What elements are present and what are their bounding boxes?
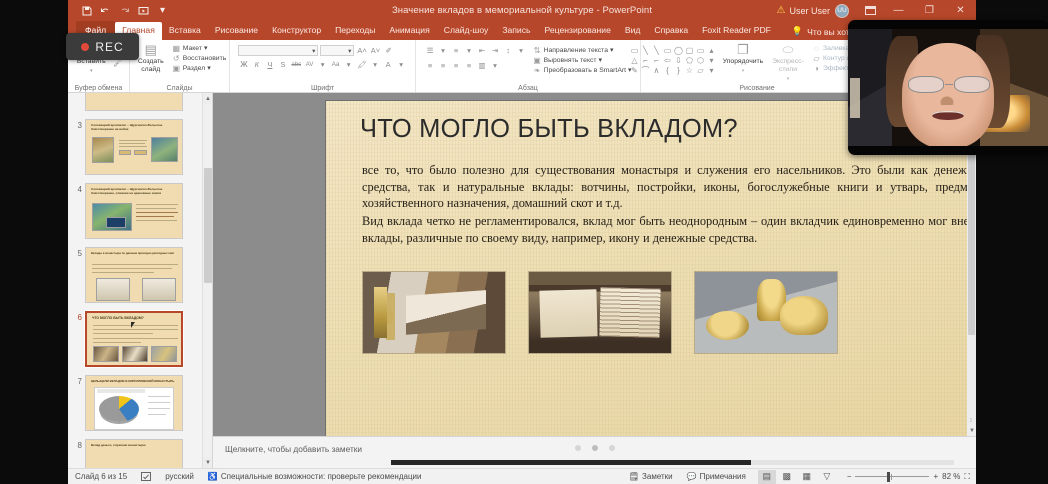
list-item[interactable]: 3 Соловецкий архипелаг – Щургинско-Бельс… [68, 115, 202, 179]
zoom-in-icon[interactable]: + [933, 472, 938, 481]
scrollbar-thumb[interactable] [204, 168, 212, 283]
tab-insert[interactable]: Вставка [162, 22, 208, 40]
reset-icon: ↺ [172, 54, 181, 63]
bold-button[interactable]: Ж [238, 59, 249, 70]
shape-right-brace-icon[interactable]: } [673, 65, 684, 75]
horizontal-scrollbar[interactable] [391, 460, 954, 465]
normal-view-icon[interactable]: ▤ [758, 470, 776, 484]
convert-smartart-button[interactable]: ❧ Преобразовать в SmartArt▾ [533, 66, 632, 75]
scroll-up-icon[interactable]: ▲ [203, 93, 213, 104]
powerpoint-window: ▾ Значение вкладов в мемориальной культу… [68, 0, 976, 484]
maximize-icon[interactable]: ❐ [914, 0, 945, 21]
chevron-down-icon: ▾ [90, 67, 93, 75]
text-shadow-button[interactable]: S [277, 59, 288, 70]
layout-button[interactable]: ▦ Макет▾ [172, 44, 227, 53]
shape-textbox-icon[interactable]: ▭ [629, 45, 640, 55]
notes-button[interactable]: 🗒 Заметки [622, 469, 680, 484]
shape-pentagon-icon[interactable]: ⬠ [684, 55, 695, 65]
thumbnail-title: Соловецкий архипелаг – Щургинско-Бельско… [91, 123, 178, 131]
layout-label: Макет [183, 44, 202, 53]
thumbnail-title: Вклад деньги, служение монастырю [91, 443, 178, 447]
thumbnail-number: 8 [68, 439, 82, 450]
reading-view-icon[interactable]: ▦ [798, 470, 816, 484]
thumbnail-number: 6 [68, 311, 82, 322]
thumbnail-number: 4 [68, 183, 82, 194]
photo-church-interior-candlesticks[interactable] [362, 271, 506, 354]
section-button[interactable]: ▣ Раздел▾ [172, 64, 227, 73]
clear-formatting-icon[interactable]: ✐ [383, 45, 394, 56]
bullets-chevron-down-icon[interactable]: ▾ [438, 45, 449, 56]
shape-square-icon[interactable]: ▭ [695, 45, 706, 55]
text-direction-icon: ⇅ [533, 46, 542, 55]
title-bar: ▾ Значение вкладов в мемориальной культу… [68, 0, 976, 21]
thumbnail-slide-8[interactable]: Вклад деньги, служение монастырю [85, 439, 183, 468]
tab-view[interactable]: Вид [618, 22, 648, 40]
screen: ▾ Значение вкладов в мемориальной культу… [0, 0, 1048, 484]
arrange-label: Упорядочить [723, 58, 763, 66]
columns-icon[interactable]: ▥ [477, 60, 488, 71]
shapes-scroll-up-icon[interactable]: ▴ [706, 45, 717, 55]
align-text-icon: ▣ [533, 56, 542, 65]
status-bar: Слайд 6 из 15 русский ♿ Специальные возм… [68, 468, 976, 484]
shapes-gallery[interactable]: ▭ ╲ ╲ ▭ ◯ ▢ ▭ ▴ △ ⌐ ⌐ ⇦ ⇩ ⬠ ⬡ [629, 43, 717, 75]
highlight-chevron-down-icon[interactable]: ▾ [370, 59, 381, 70]
list-item[interactable]: 4 Соловецкий архипелаг – Щургинско-Бельс… [68, 179, 202, 243]
change-case-button[interactable]: Aa [330, 59, 341, 70]
tab-slideshow[interactable]: Слайд-шоу [437, 22, 496, 40]
thumbnail-list: 2 3 Соловецкий архипелаг – Щургинско-Бел… [68, 93, 202, 468]
layout-icon: ▦ [172, 44, 181, 53]
thumbnail-slide-2[interactable] [85, 93, 183, 111]
thumbnail-title: ЦЕЛЬ/ЦЕЛИ ВКЛАДОВ В КИРИЛЛОВСКИЙ МОНАСТЫ… [91, 379, 178, 383]
ribbon-group-font: ▾ ▾ A˄ A˅ ✐ Ж К Ч S abc [230, 40, 416, 92]
char-spacing-chevron-down-icon[interactable]: ▾ [317, 59, 328, 70]
thumbnail-slide-4[interactable]: Соловецкий архипелаг – Щургинско-Бельско… [85, 183, 183, 239]
list-item[interactable]: 5 Вклады в монастыри по данным приходно-… [68, 243, 202, 307]
ribbon-display-options-icon[interactable] [857, 0, 883, 21]
align-left-icon[interactable]: ≡ [425, 60, 436, 71]
arrange-icon: ❐ [737, 43, 749, 57]
shape-right-triangle-icon[interactable]: ⌐ [640, 55, 651, 65]
numbering-chevron-down-icon[interactable]: ▾ [464, 45, 475, 56]
tab-foxit-reader-pdf[interactable]: Foxit Reader PDF [695, 22, 778, 40]
shape-line-icon[interactable]: ╲ [640, 45, 651, 55]
strikethrough-button[interactable]: abc [290, 59, 302, 70]
speaker-face [902, 43, 994, 146]
notes-pane[interactable]: Щелкните, чтобы добавить заметки [213, 436, 976, 468]
list-item[interactable]: 8 Вклад деньги, служение монастырю [68, 435, 202, 468]
record-dot-icon [81, 43, 89, 51]
tab-animations[interactable]: Анимация [382, 22, 436, 40]
thumbnail-title: Соловецкий архипелаг – Щургинско-Бельско… [91, 187, 178, 195]
redo-icon[interactable] [116, 2, 133, 19]
tab-draw[interactable]: Рисование [208, 22, 265, 40]
tab-review[interactable]: Рецензирование [538, 22, 618, 40]
reset-label: Восстановить [183, 54, 227, 63]
zoom-control[interactable]: − + 82 % ⛶ [841, 471, 976, 483]
bulleted-list-icon[interactable]: ☰ [425, 45, 436, 56]
thumbnail-title: Вклады в монастыри по данным приходно-ра… [91, 251, 178, 255]
lightbulb-icon: 💡 [792, 26, 803, 37]
slides-group-label: Слайды [130, 85, 229, 92]
thumbnail-slide-7[interactable]: ЦЕЛЬ/ЦЕЛИ ВКЛАДОВ В КИРИЛЛОВСКИЙ МОНАСТЫ… [85, 375, 183, 431]
font-size-combo[interactable]: ▾ [320, 45, 354, 56]
language-indicator[interactable]: русский [158, 469, 201, 484]
shape-triangle-icon[interactable]: △ [629, 55, 640, 65]
user-name[interactable]: User User [789, 6, 830, 16]
thumbnail-title: ЧТО МОГЛО БЫТЬ ВКЛАДОМ? [92, 316, 177, 320]
comment-icon: 💬 [687, 472, 697, 481]
underline-button[interactable]: Ч [264, 59, 275, 70]
shapes-more-icon[interactable]: ▾ [706, 65, 717, 75]
new-slide-icon: ▤ [145, 43, 157, 57]
comments-button[interactable]: 💬 Примечания [680, 469, 753, 484]
quick-styles-button[interactable]: ⬭ Экспресс-стили ▾ [769, 43, 807, 83]
increase-font-size-icon[interactable]: A˄ [356, 45, 367, 56]
character-spacing-button[interactable]: AV [304, 59, 315, 70]
shape-banner-icon[interactable]: ▱ [695, 65, 706, 75]
thumbnail-number: 3 [68, 119, 82, 130]
font-color-button[interactable]: A [383, 59, 394, 70]
paragraph-group-label: Абзац [416, 85, 640, 92]
shape-arc-icon[interactable]: ∧ [651, 65, 662, 75]
shape-left-brace-icon[interactable]: { [662, 65, 673, 75]
text-direction-label: Направление текста [544, 46, 608, 55]
increase-indent-icon[interactable]: ⇥ [490, 45, 501, 56]
shape-arrow-icon[interactable]: ╲ [651, 45, 662, 55]
font-group-label: Шрифт [230, 85, 415, 92]
drawing-group-label: Рисование [641, 85, 873, 92]
columns-chevron-down-icon[interactable]: ▾ [490, 60, 501, 71]
notes-label: Заметки [642, 472, 673, 481]
font-name-combo[interactable]: ▾ [238, 45, 318, 56]
photo-open-manuscript-book[interactable] [528, 271, 672, 354]
font-color-chevron-down-icon[interactable]: ▾ [396, 59, 407, 70]
arrange-chevron-down-icon: ▾ [742, 67, 745, 75]
arrange-button[interactable]: ❐ Упорядочить ▾ [722, 43, 764, 75]
shape-star-icon[interactable]: ☆ [684, 65, 695, 75]
fit-slide-to-window-icon[interactable]: ⛶ [964, 472, 970, 482]
line-spacing-chevron-down-icon[interactable]: ▾ [516, 45, 527, 56]
thumbnail-scrollbar[interactable]: ▲ ▼ [202, 93, 212, 468]
comments-label: Примечания [700, 472, 746, 481]
notes-icon: 🗒 [629, 472, 639, 481]
tab-transitions[interactable]: Переходы [328, 22, 382, 40]
quick-styles-chevron-down-icon: ▾ [787, 75, 790, 83]
shape-curve-icon[interactable]: ⌒ [640, 65, 651, 75]
quick-styles-icon: ⬭ [782, 43, 793, 57]
glasses-icon [908, 76, 990, 94]
list-item[interactable]: 7 ЦЕЛЬ/ЦЕЛИ ВКЛАДОВ В КИРИЛЛОВСКИЙ МОНАС… [68, 371, 202, 435]
webcam-overlay[interactable] [848, 20, 1048, 155]
accessibility-label: Специальные возможности: проверьте реком… [221, 472, 422, 481]
list-item[interactable]: 6 ЧТО МОГЛО БЫТЬ ВКЛАДОМ? [68, 307, 202, 371]
justify-icon[interactable]: ≡ [464, 60, 475, 71]
list-item[interactable]: 2 [68, 93, 202, 115]
convert-smartart-label: Преобразовать в SmartArt [544, 66, 626, 75]
minimize-icon[interactable]: — [883, 0, 914, 21]
nav-dot-active[interactable] [592, 445, 598, 451]
undo-icon[interactable] [97, 2, 114, 19]
quick-styles-label: Экспресс-стили [769, 58, 807, 74]
align-center-icon[interactable]: ≡ [438, 60, 449, 71]
ribbon-group-paragraph: ☰ ▾ ≡ ▾ ⇤ ⇥ ↕ ▾ ≡ ≡ ≡ [416, 40, 641, 92]
accessibility-status[interactable]: ♿ Специальные возможности: проверьте рек… [201, 469, 429, 484]
ribbon-group-drawing: ▭ ╲ ╲ ▭ ◯ ▢ ▭ ▴ △ ⌐ ⌐ ⇦ ⇩ ⬠ ⬡ [641, 40, 873, 92]
zoom-level[interactable]: 82 % [942, 472, 960, 481]
shape-oval-icon[interactable]: ◯ [673, 45, 684, 55]
slide-navigation-dots[interactable] [575, 445, 615, 451]
notes-placeholder[interactable]: Щелкните, чтобы добавить заметки [225, 444, 362, 454]
slideshow-view-icon[interactable]: ▽ [818, 470, 836, 484]
zoom-slider[interactable] [855, 471, 929, 483]
tab-record[interactable]: Запись [495, 22, 537, 40]
avatar[interactable]: UU [835, 4, 849, 18]
align-text-button[interactable]: ▣ Выровнять текст▾ [533, 56, 632, 65]
customize-qat-icon[interactable]: ▾ [154, 2, 171, 19]
photo-gold-liturgical-vessels[interactable] [694, 271, 838, 354]
canvas-scroll-down-icon[interactable]: ▼ [967, 425, 976, 436]
thumbnail-number: 7 [68, 375, 82, 386]
text-direction-button[interactable]: ⇅ Направление текста▾ [533, 46, 632, 55]
slide-paragraph-2[interactable]: Вид вклада четко не регламентировался, в… [362, 213, 976, 246]
nav-dot[interactable] [575, 445, 581, 451]
accessibility-icon: ♿ [208, 472, 218, 481]
ribbon-tabs: Файл Главная Вставка Рисование Конструкт… [68, 21, 976, 40]
slide-image-row [362, 271, 838, 354]
thumbnail-slide-3[interactable]: Соловецкий архипелаг – Щургинско-Бельско… [85, 119, 183, 175]
numbered-list-icon[interactable]: ≡ [451, 45, 462, 56]
text-highlight-icon[interactable]: 🖍 [356, 59, 368, 70]
section-label: Раздел [183, 64, 205, 73]
ribbon-group-slides: ▤ Создать слайд ▦ Макет▾ ↺ Восстановить [130, 40, 230, 92]
scroll-down-icon[interactable]: ▼ [203, 457, 213, 468]
canvas-scroll-dots-icon: ⁝ [967, 418, 975, 424]
slide-counter[interactable]: Слайд 6 из 15 [68, 469, 134, 484]
shape-hexagon-icon[interactable]: ⬡ [695, 55, 706, 65]
clipboard-group-label: Буфер обмена [68, 85, 129, 92]
ribbon: 📋 Вставить ▾ 🖌 Буфер обмена ▤ Создать сл… [68, 40, 976, 93]
start-slideshow-icon[interactable] [135, 2, 152, 19]
close-icon[interactable]: ✕ [945, 0, 976, 21]
nav-dot[interactable] [609, 445, 615, 451]
thumbnail-slide-5[interactable]: Вклады в монастыри по данным приходно-ра… [85, 247, 183, 303]
shape-elbow-icon[interactable]: ⌐ [651, 55, 662, 65]
shape-effects-icon: ◑ [812, 64, 821, 73]
thumbnail-number: 5 [68, 247, 82, 258]
change-case-chevron-down-icon[interactable]: ▾ [343, 59, 354, 70]
shape-rectangle-icon[interactable]: ▭ [662, 45, 673, 55]
quick-access-toolbar: ▾ [68, 2, 171, 19]
shape-left-arrow-icon[interactable]: ⇦ [662, 55, 673, 65]
recording-indicator[interactable]: REC [66, 33, 139, 60]
shape-down-arrow-icon[interactable]: ⇩ [673, 55, 684, 65]
shape-outline-icon: ▱ [812, 54, 821, 63]
tab-help[interactable]: Справка [647, 22, 695, 40]
section-icon: ▣ [172, 64, 181, 73]
mouse-cursor-icon [131, 322, 138, 328]
slide-thumbnail-pane[interactable]: 2 3 Соловецкий архипелаг – Щургинско-Бел… [68, 93, 213, 468]
smartart-icon: ❧ [533, 66, 542, 75]
decrease-font-size-icon[interactable]: A˅ [370, 45, 381, 56]
warning-triangle-icon[interactable]: ⚠ [777, 5, 786, 16]
zoom-out-icon[interactable]: − [847, 472, 852, 481]
spellcheck-icon[interactable] [134, 469, 158, 484]
webcam-video [848, 29, 1048, 146]
align-right-icon[interactable]: ≡ [451, 60, 462, 71]
shape-fill-icon: ◌ [812, 44, 821, 53]
line-spacing-icon[interactable]: ↕ [503, 45, 514, 56]
shape-freeform-icon[interactable]: ✎ [629, 65, 640, 75]
align-text-label: Выровнять текст [544, 56, 597, 65]
shape-rounded-rect-icon[interactable]: ▢ [684, 45, 695, 55]
italic-button[interactable]: К [251, 59, 262, 70]
new-slide-label: Создать слайд [133, 58, 169, 74]
thumbnail-slide-6[interactable]: ЧТО МОГЛО БЫТЬ ВКЛАДОМ? [85, 311, 183, 367]
slide-paragraph-1[interactable]: все то, что было полезно для существован… [362, 162, 976, 212]
slide-sorter-icon[interactable]: ▩ [778, 470, 796, 484]
tab-design[interactable]: Конструктор [265, 22, 328, 40]
save-icon[interactable] [78, 2, 95, 19]
decrease-indent-icon[interactable]: ⇤ [477, 45, 488, 56]
rec-label: REC [95, 40, 123, 54]
shapes-scroll-down-icon[interactable]: ▾ [706, 55, 717, 65]
reset-button[interactable]: ↺ Восстановить [172, 54, 227, 63]
title-bar-right: ⚠ User User UU — ❐ ✕ [777, 0, 976, 21]
